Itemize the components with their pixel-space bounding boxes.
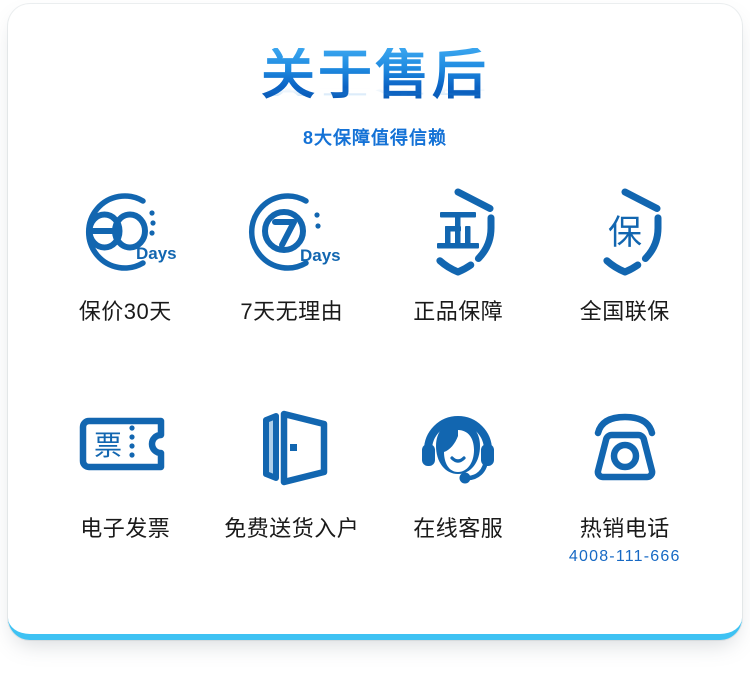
feature-row-1: Days 保价30天	[42, 186, 708, 347]
feature-grid: Days 保价30天	[42, 186, 708, 566]
feature-online-support[interactable]: 在线客服	[375, 403, 542, 566]
promo-page: 关于售后 关于售后 8大保障值得信赖	[0, 0, 750, 673]
phone-handset	[598, 417, 652, 433]
feature-price-protection[interactable]: Days 保价30天	[42, 186, 209, 347]
phone-dial	[614, 445, 636, 467]
feature-label: 在线客服	[375, 517, 542, 541]
feature-label: 热销电话	[542, 517, 709, 541]
30-days-unit-text: Days	[136, 244, 177, 263]
piao-glyph: 票	[94, 429, 122, 462]
7-days-unit-text: Days	[300, 246, 341, 265]
mic-tip	[460, 473, 471, 484]
page-title-reflection: 关于售后	[8, 88, 742, 96]
shield-warranty-icon: 保	[542, 186, 709, 278]
seven-glyph	[275, 222, 294, 245]
feature-hotline[interactable]: 热销电话 4008-111-666	[542, 403, 709, 566]
feature-label: 7天无理由	[209, 300, 376, 324]
invoice-ticket-icon: 票	[42, 403, 209, 495]
perforation-dots	[130, 426, 135, 458]
feature-national-warranty[interactable]: 保 全国联保	[542, 186, 709, 347]
phone-body	[598, 435, 652, 477]
30-days-circle-icon: Days	[42, 186, 209, 278]
feature-label: 全国联保	[542, 300, 709, 324]
bao-glyph: 保	[608, 213, 642, 253]
agent-head	[436, 422, 480, 474]
feature-label: 正品保障	[375, 300, 542, 324]
door-delivery-icon	[209, 403, 376, 495]
zheng-glyph	[437, 212, 479, 249]
7-days-circle-icon: Days	[209, 186, 376, 278]
shield-genuine-icon	[375, 186, 542, 278]
feature-label: 电子发票	[42, 517, 209, 541]
feature-7-day-return[interactable]: Days 7天无理由	[209, 186, 376, 347]
feature-row-2: 票 电子发票	[42, 403, 708, 566]
door-back-panel	[266, 416, 276, 478]
feature-label: 保价30天	[42, 300, 209, 324]
door-handle	[290, 444, 297, 451]
feature-genuine-goods[interactable]: 正品保障	[375, 186, 542, 347]
hotline-number[interactable]: 4008-111-666	[542, 548, 709, 566]
page-subtitle: 8大保障值得信赖	[8, 124, 742, 150]
header: 关于售后 关于售后 8大保障值得信赖	[8, 48, 742, 150]
headset-support-icon	[375, 403, 542, 495]
promo-card: 关于售后 关于售后 8大保障值得信赖	[8, 4, 742, 640]
feature-free-delivery[interactable]: 免费送货入户	[209, 403, 376, 566]
telephone-icon	[542, 403, 709, 495]
feature-e-invoice[interactable]: 票 电子发票	[42, 403, 209, 566]
feature-label: 免费送货入户	[209, 517, 376, 541]
